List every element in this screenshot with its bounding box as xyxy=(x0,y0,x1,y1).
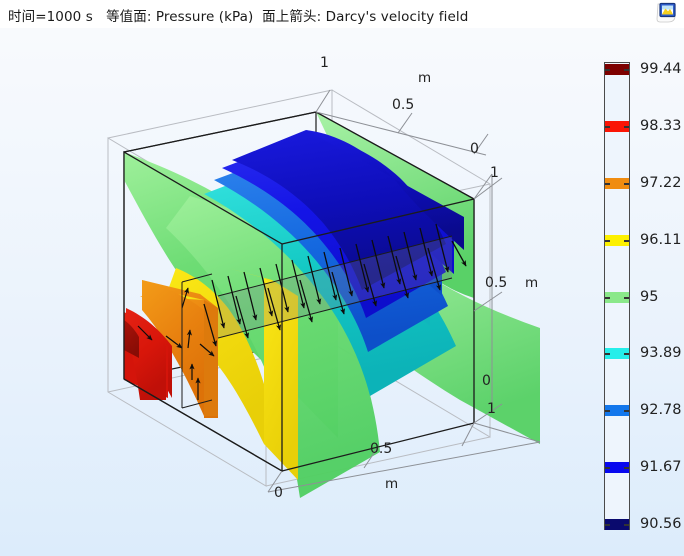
colorbar-tick-label: 98.33 xyxy=(640,119,682,134)
axis-bottom-tick-0: 0 xyxy=(274,486,283,500)
axis-bottom-tick-1: 1 xyxy=(487,402,496,416)
axis-right-tick-0: 0 xyxy=(482,374,491,388)
axis-top-tick-1: 1 xyxy=(320,56,329,70)
plot-3d-scene[interactable]: 1 m 0.5 0 1 0.5 m 0 1 0.5 m 0 xyxy=(0,28,684,556)
colorbar-tick xyxy=(624,524,629,526)
colorbar-tick-label: 93.89 xyxy=(640,346,682,361)
axis-right-tick-1: 1 xyxy=(490,166,499,180)
colorbar-tick xyxy=(605,410,610,412)
colorbar-tick xyxy=(605,297,610,299)
page-title: 时间=1000 s 等值面: Pressure (kPa) 面上箭头: Darc… xyxy=(8,5,468,25)
colorbar-tick xyxy=(624,467,629,469)
axis-bottom-unit: m xyxy=(385,478,398,492)
colorbar-tick xyxy=(605,353,610,355)
colorbar-tick xyxy=(624,297,629,299)
colorbar-tick xyxy=(624,69,629,71)
colorbar-tick-label: 97.22 xyxy=(640,176,682,191)
colorbar-legend[interactable]: 99.4498.3397.2296.119593.8992.7891.6790.… xyxy=(604,62,684,534)
colorbar-tick xyxy=(624,353,629,355)
colorbar-tick xyxy=(624,240,629,242)
colorbar-tick xyxy=(605,183,610,185)
scene-svg xyxy=(0,28,684,556)
axis-top-tick-0: 0 xyxy=(470,142,479,156)
colorbar-tick xyxy=(605,69,610,71)
plot-header: 时间=1000 s 等值面: Pressure (kPa) 面上箭头: Darc… xyxy=(0,0,684,28)
colorbar-tick-label: 90.56 xyxy=(640,517,682,532)
colorbar-tick-label: 91.67 xyxy=(640,460,682,475)
colorbar-tick xyxy=(624,410,629,412)
colorbar-tick xyxy=(624,126,629,128)
colorbar-tick-label: 99.44 xyxy=(640,62,682,77)
colorbar-tick xyxy=(605,467,610,469)
colorbar-track xyxy=(604,62,630,530)
colorbar-tick xyxy=(605,240,610,242)
axis-right-unit: m xyxy=(525,277,538,291)
axis-top-tick-05: 0.5 xyxy=(392,98,414,112)
axis-bottom-tick-05: 0.5 xyxy=(370,442,392,456)
colorbar-tick-label: 92.78 xyxy=(640,403,682,418)
axis-top-unit: m xyxy=(418,72,431,86)
plot-image-icon[interactable] xyxy=(654,1,680,25)
colorbar-tick-label: 96.11 xyxy=(640,233,682,248)
axis-right-tick-05: 0.5 xyxy=(485,276,507,290)
colorbar-tick xyxy=(605,524,610,526)
comsol-plot-window: 时间=1000 s 等值面: Pressure (kPa) 面上箭头: Darc… xyxy=(0,0,684,556)
colorbar-tick-label: 95 xyxy=(640,290,658,305)
colorbar-tick xyxy=(624,183,629,185)
colorbar-tick xyxy=(605,126,610,128)
